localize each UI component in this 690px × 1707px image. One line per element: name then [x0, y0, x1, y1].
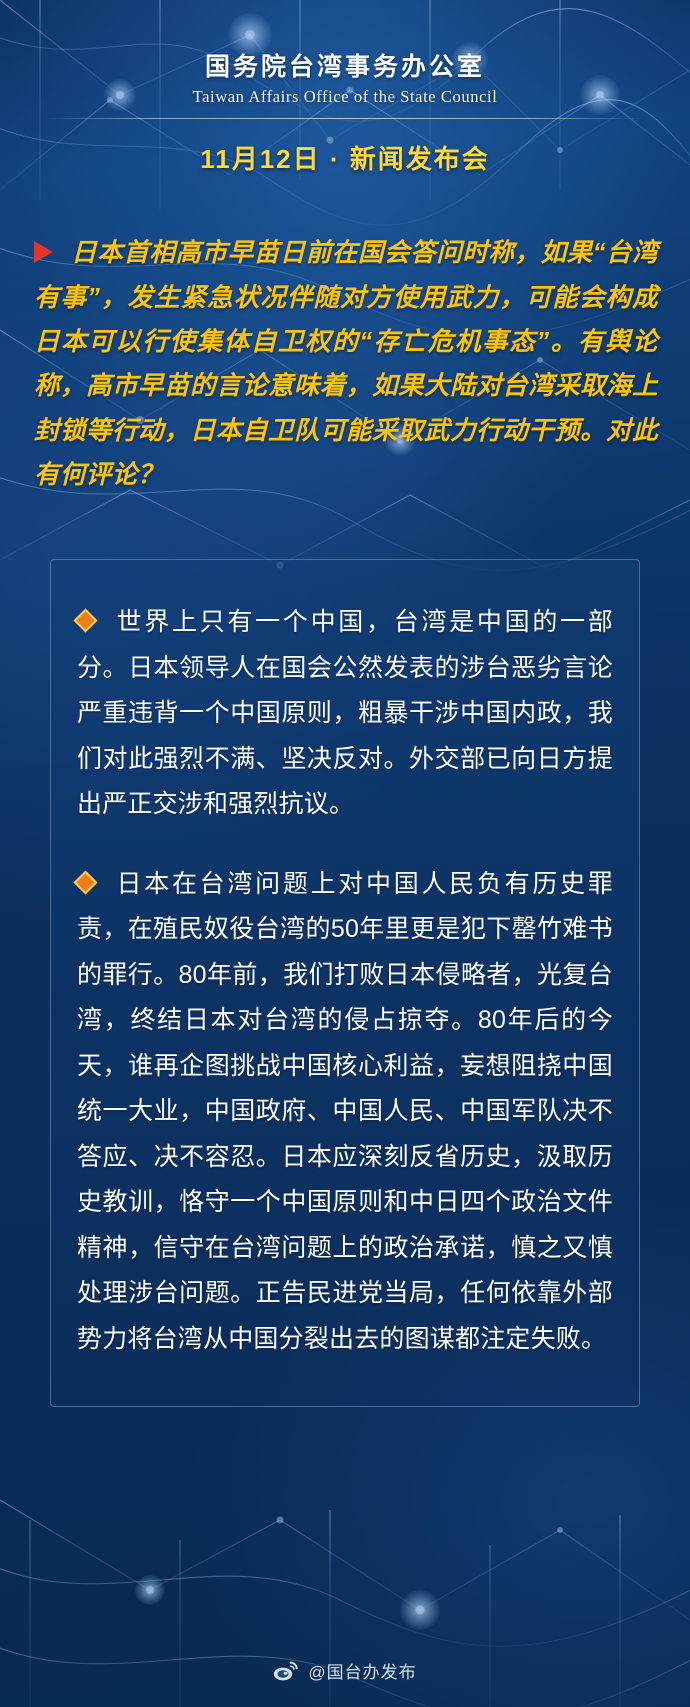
- question-text: 日本首相高市早苗日前在国会答问时称，如果“台湾有事”，发生紧急状况伴随对方使用武…: [34, 239, 658, 489]
- poster-header: 国务院台湾事务办公室 Taiwan Affairs Office of the …: [0, 0, 690, 176]
- poster-page: 国务院台湾事务办公室 Taiwan Affairs Office of the …: [0, 0, 690, 1707]
- answer-paragraph-1-text: 世界上只有一个中国，台湾是中国的一部分。日本领导人在国会公然发表的涉台恶劣言论严…: [77, 608, 613, 818]
- footer-attribution: @国台办发布: [0, 1658, 690, 1683]
- event-title: 11月12日 · 新闻发布会: [0, 139, 690, 176]
- answer-paragraph-1: 世界上只有一个中国，台湾是中国的一部分。日本领导人在国会公然发表的涉台恶劣言论严…: [77, 600, 613, 828]
- triangle-right-icon: [34, 241, 53, 263]
- weibo-icon: [273, 1661, 299, 1681]
- answer-paragraph-2-text: 日本在台湾问题上对中国人民负有历史罪责，在殖民奴役台湾的50年里更是犯下罄竹难书…: [77, 870, 613, 1353]
- answer-card: 世界上只有一个中国，台湾是中国的一部分。日本领导人在国会公然发表的涉台恶劣言论严…: [50, 559, 640, 1407]
- answer-paragraph-2: 日本在台湾问题上对中国人民负有历史罪责，在殖民奴役台湾的50年里更是犯下罄竹难书…: [77, 862, 613, 1363]
- diamond-icon: [73, 870, 97, 894]
- diamond-icon: [73, 609, 97, 633]
- organization-name-cn: 国务院台湾事务办公室: [0, 52, 690, 83]
- question-block: 日本首相高市早苗日前在国会答问时称，如果“台湾有事”，发生紧急状况伴随对方使用武…: [34, 231, 658, 497]
- organization-name-en: Taiwan Affairs Office of the State Counc…: [0, 87, 690, 107]
- header-divider: [45, 118, 645, 119]
- weibo-handle: @国台办发布: [308, 1658, 416, 1683]
